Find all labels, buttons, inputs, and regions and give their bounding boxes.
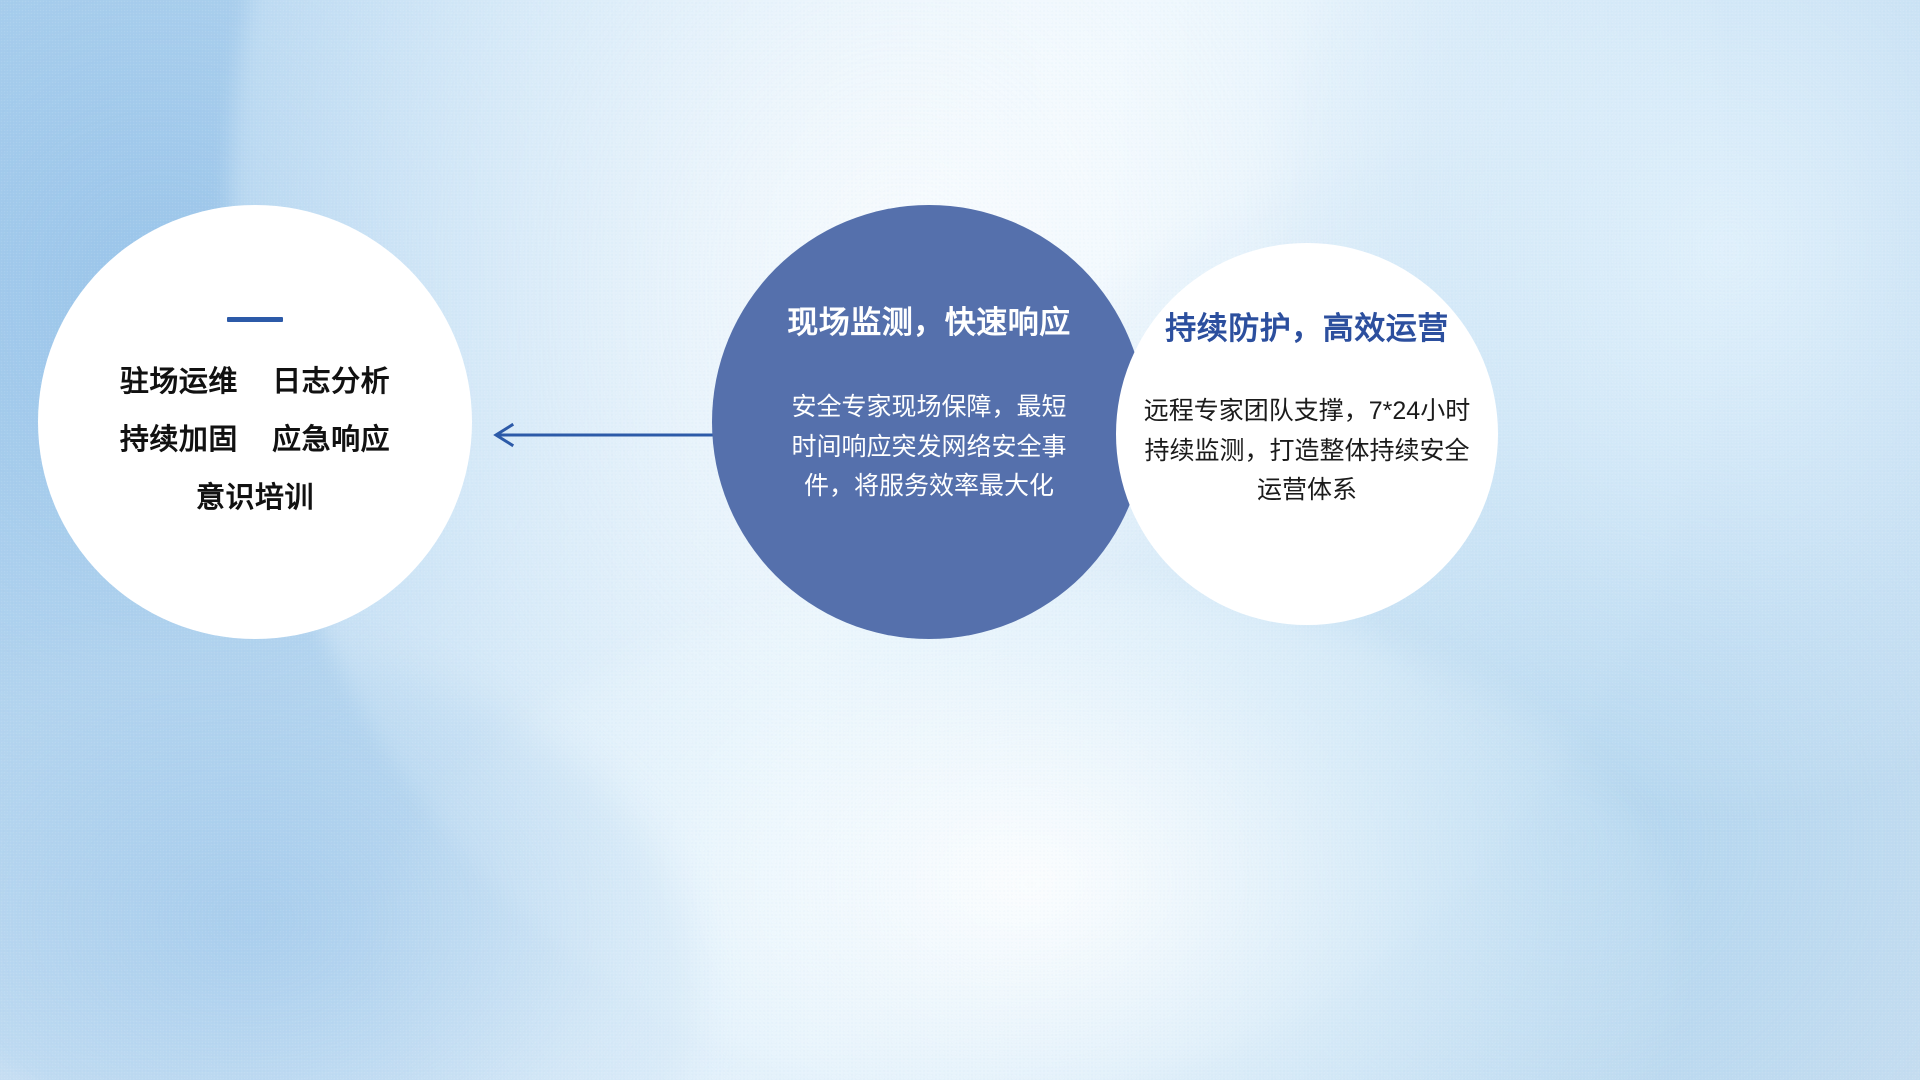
- divider-dash: [227, 317, 283, 322]
- capability-line-1: 驻场运维 日志分析: [120, 368, 390, 397]
- capability-line-2: 持续加固 应急响应: [120, 426, 390, 455]
- middle-circle-body: 安全专家现场保障，最短时间响应突发网络安全事件，将服务效率最大化: [787, 388, 1072, 507]
- capability-circle-right: 持续防护，高效运营 远程专家团队支撑，7*24小时持续监测，打造整体持续安全运营…: [1116, 243, 1498, 625]
- slide-canvas: 驻场运维 日志分析 持续加固 应急响应 意识培训 现场监测，快速响应 安全专家现…: [0, 0, 1920, 1080]
- capability-circle-left: 驻场运维 日志分析 持续加固 应急响应 意识培训: [38, 205, 472, 639]
- arrow-left-icon: [482, 412, 722, 458]
- right-circle-title: 持续防护，高效运营: [1165, 303, 1449, 348]
- capability-circle-middle: 现场监测，快速响应 安全专家现场保障，最短时间响应突发网络安全事件，将服务效率最…: [712, 205, 1146, 639]
- right-circle-body: 远程专家团队支撑，7*24小时持续监测，打造整体持续安全运营体系: [1142, 392, 1472, 511]
- capability-line-3: 意识培训: [196, 484, 314, 513]
- middle-circle-title: 现场监测，快速响应: [787, 297, 1071, 342]
